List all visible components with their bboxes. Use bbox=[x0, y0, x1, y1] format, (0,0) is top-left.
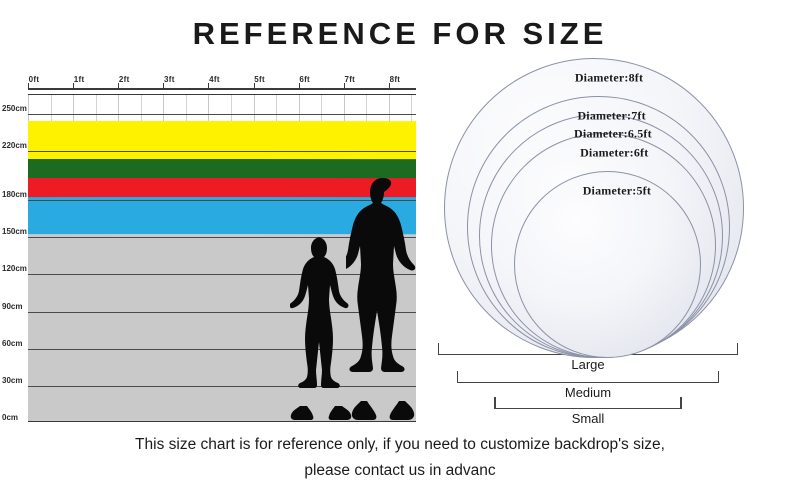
x-tick-label: 3ft bbox=[164, 75, 175, 84]
page-title: REFERENCE FOR SIZE bbox=[0, 16, 800, 52]
y-tick-label: 250cm bbox=[2, 104, 27, 113]
disc-label-6ft: Diameter:6ft bbox=[580, 146, 648, 161]
x-tick-label: 1ft bbox=[74, 75, 85, 84]
y-tick-label: 150cm bbox=[2, 227, 27, 236]
disc-label-8ft: Diameter:8ft bbox=[575, 71, 643, 86]
bracket-bar bbox=[457, 382, 720, 383]
x-tick-mark bbox=[163, 83, 164, 88]
x-tick-mark bbox=[73, 83, 74, 88]
y-tick-label: 30cm bbox=[2, 376, 22, 385]
child-silhouette bbox=[290, 235, 352, 422]
x-tick-label: 6ft bbox=[299, 75, 310, 84]
x-tick-mark bbox=[208, 83, 209, 88]
x-tick-mark bbox=[344, 83, 345, 88]
disc-label-7ft: Diameter:7ft bbox=[577, 108, 645, 123]
x-tick-mark bbox=[299, 83, 300, 88]
disc-5ft bbox=[514, 171, 702, 359]
y-tick-label: 60cm bbox=[2, 339, 22, 348]
bracket-label-large: Large bbox=[571, 357, 604, 372]
caption-line-1: This size chart is for reference only, i… bbox=[0, 432, 800, 458]
horizontal-gridline bbox=[28, 114, 416, 115]
footer-caption: This size chart is for reference only, i… bbox=[0, 432, 800, 484]
size-reference-poster: REFERENCE FOR SIZE 0ft1ft2ft3ft4ft5ft6ft… bbox=[0, 0, 800, 488]
x-tick-label: 7ft bbox=[344, 75, 355, 84]
y-tick-label: 180cm bbox=[2, 190, 27, 199]
x-tick-mark bbox=[28, 83, 29, 88]
bracket-label-medium: Medium bbox=[565, 385, 611, 400]
y-tick-label: 0cm bbox=[2, 413, 18, 422]
y-tick-label: 90cm bbox=[2, 302, 22, 311]
bracket-cap-left bbox=[494, 397, 495, 408]
x-tick-label: 4ft bbox=[209, 75, 220, 84]
x-tick-label: 2ft bbox=[119, 75, 130, 84]
bracket-cap-left bbox=[457, 371, 458, 382]
bracket-cap-right bbox=[680, 397, 681, 408]
x-axis-line: 0ft1ft2ft3ft4ft5ft6ft7ft8ft bbox=[28, 88, 416, 90]
y-tick-label: 220cm bbox=[2, 141, 27, 150]
x-tick-mark bbox=[254, 83, 255, 88]
x-tick-label: 8ft bbox=[390, 75, 401, 84]
horizontal-gridline bbox=[28, 151, 416, 152]
chart-plot-area: 8ft7ft6. 5ft6ft5ft bbox=[28, 94, 416, 422]
y-tick-label: 120cm bbox=[2, 264, 27, 273]
bracket-cap-left bbox=[438, 343, 439, 354]
woman-silhouette bbox=[346, 177, 416, 422]
x-tick-label: 5ft bbox=[254, 75, 265, 84]
x-tick-mark bbox=[118, 83, 119, 88]
height-chart-panel: 0ft1ft2ft3ft4ft5ft6ft7ft8ft 250cm220cm18… bbox=[0, 72, 430, 430]
disc-diagram-panel: Diameter:8ftDiameter:7ftDiameter:6.5ftDi… bbox=[430, 56, 800, 456]
bracket-label-small: Small bbox=[572, 411, 605, 426]
x-tick-label: 0ft bbox=[29, 75, 40, 84]
x-tick-mark bbox=[389, 83, 390, 88]
disc-label-5ft: Diameter:5ft bbox=[583, 183, 651, 198]
caption-line-2: please contact us in advanc bbox=[0, 458, 800, 484]
bracket-bar bbox=[494, 408, 682, 409]
disc-label-6-5ft: Diameter:6.5ft bbox=[574, 127, 652, 142]
bracket-cap-right bbox=[737, 343, 738, 354]
bracket-cap-right bbox=[718, 371, 719, 382]
